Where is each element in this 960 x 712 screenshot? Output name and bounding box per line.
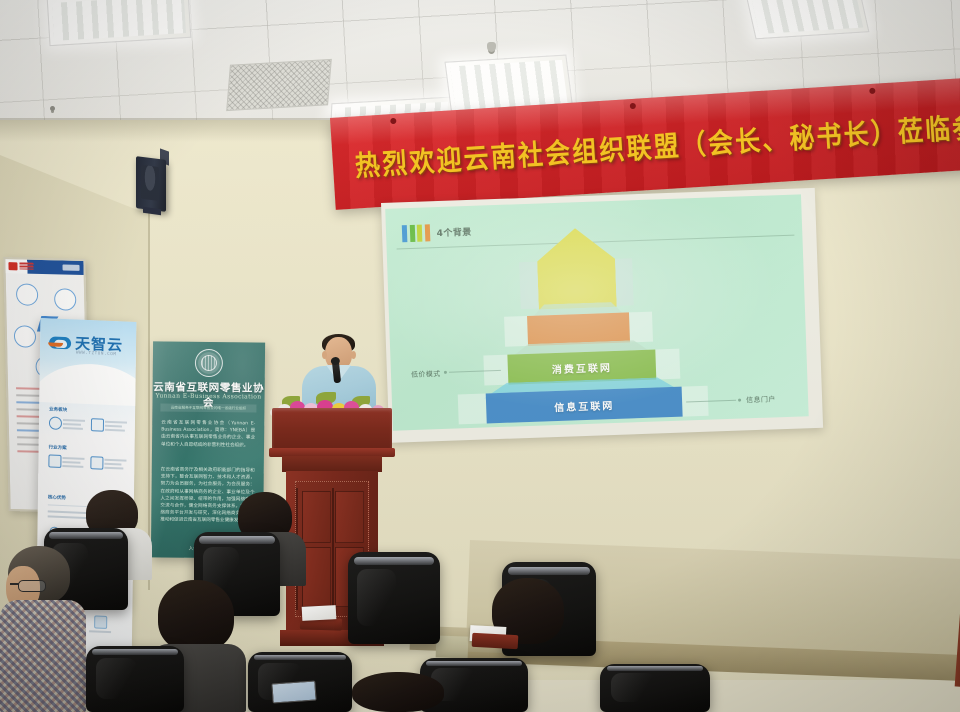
ceiling-air-vent (226, 59, 332, 111)
sprinkler-head (487, 42, 496, 52)
tablet-device (271, 680, 316, 703)
pyramid-tier-4: 信息互联网 (486, 387, 683, 424)
rollup-card (49, 414, 87, 438)
rollup-card-line (63, 419, 85, 422)
callout-left-label: 低价模式 (411, 369, 441, 380)
footer-label-line (89, 630, 111, 633)
pyramid-tier-2 (527, 312, 630, 346)
poster-logo-text (19, 262, 33, 269)
poster-logo-icon (8, 262, 17, 270)
podium-door-panel (335, 491, 364, 543)
server-icon (90, 456, 103, 470)
rollup-card-line (104, 467, 123, 469)
rollup-card-line (63, 423, 81, 425)
eyeglasses-icon (18, 580, 46, 592)
callout-right-dot (738, 399, 741, 402)
pyramid-tier-4-label: 信息互联网 (554, 396, 614, 413)
handout-paper (302, 605, 337, 621)
rollup-card-line (105, 421, 127, 424)
rollup-card-line (62, 465, 83, 467)
wall-corner-edge (148, 170, 150, 590)
pyramid-tier-3-label: 消费互联网 (552, 359, 612, 376)
auditorium-seat (348, 552, 440, 644)
rollup-section-title: 业务板块 (49, 406, 67, 413)
auditorium-seat (86, 646, 184, 712)
chat-icon (94, 615, 107, 629)
rollup-section-title: 核心优势 (48, 494, 66, 501)
callout-left-dot (444, 371, 447, 374)
seat-highlight (611, 673, 657, 703)
poster-diagram-node (16, 283, 38, 306)
banner-pin (630, 103, 636, 109)
pyramid-tier-top (536, 227, 617, 310)
pyramid-diagram: 消费互联网 信息互联网 低价模式 信息门户 (385, 194, 808, 430)
podium-door-panel (302, 547, 331, 607)
banner-pin (390, 118, 396, 124)
wall-speaker-icon (136, 156, 166, 212)
rollup-card (48, 452, 86, 476)
rollup-card-line (104, 459, 126, 462)
document-icon (48, 454, 61, 468)
callout-right-label: 信息门户 (746, 394, 776, 405)
sprinkler-head (50, 106, 55, 111)
auditorium-seat (600, 664, 710, 712)
banner-pin (869, 88, 875, 94)
presenter-ear (351, 351, 356, 359)
presenter-ear (322, 351, 327, 359)
rollup-card-line (62, 457, 84, 460)
rollup-card (91, 416, 129, 440)
podium-neck (282, 456, 382, 472)
rollup-section-title: 行业方案 (49, 444, 67, 451)
audience-head (352, 672, 444, 712)
stage-side-trim (955, 567, 960, 688)
grid-icon (91, 418, 104, 432)
service-icon (49, 416, 62, 430)
seat-highlight (357, 569, 396, 626)
rollup-card-line (105, 425, 122, 427)
poster-diagram-node (14, 325, 36, 348)
conference-room-photo: 热烈欢迎云南社会组织联盟（会长、秘书长）莅临参加第八期品牌日活动 4个背景 (0, 0, 960, 712)
cloud-logo-swoosh-icon (48, 342, 63, 347)
stage-step-block (436, 635, 469, 658)
audience-head (158, 580, 234, 652)
audience-shirt (0, 600, 86, 712)
podium-door-panel (302, 491, 331, 543)
rollup-card-line (105, 429, 125, 431)
rollup-card-line (62, 461, 80, 463)
rollup-card-line (104, 463, 121, 465)
poster-diagram-node (54, 288, 76, 311)
rollup-card-line (63, 427, 83, 429)
presentation-slide: 4个背景 消费互联网 (385, 194, 808, 430)
poster-header-tag (62, 264, 79, 270)
seat-armrest (472, 633, 519, 649)
rollup-card (90, 454, 128, 478)
projector-screen: 4个背景 消费互联网 (381, 188, 823, 443)
welcome-banner-text: 热烈欢迎云南社会组织联盟（会长、秘书长）莅临参加第八期品牌日活动 (354, 106, 960, 185)
seat-highlight (96, 658, 137, 699)
